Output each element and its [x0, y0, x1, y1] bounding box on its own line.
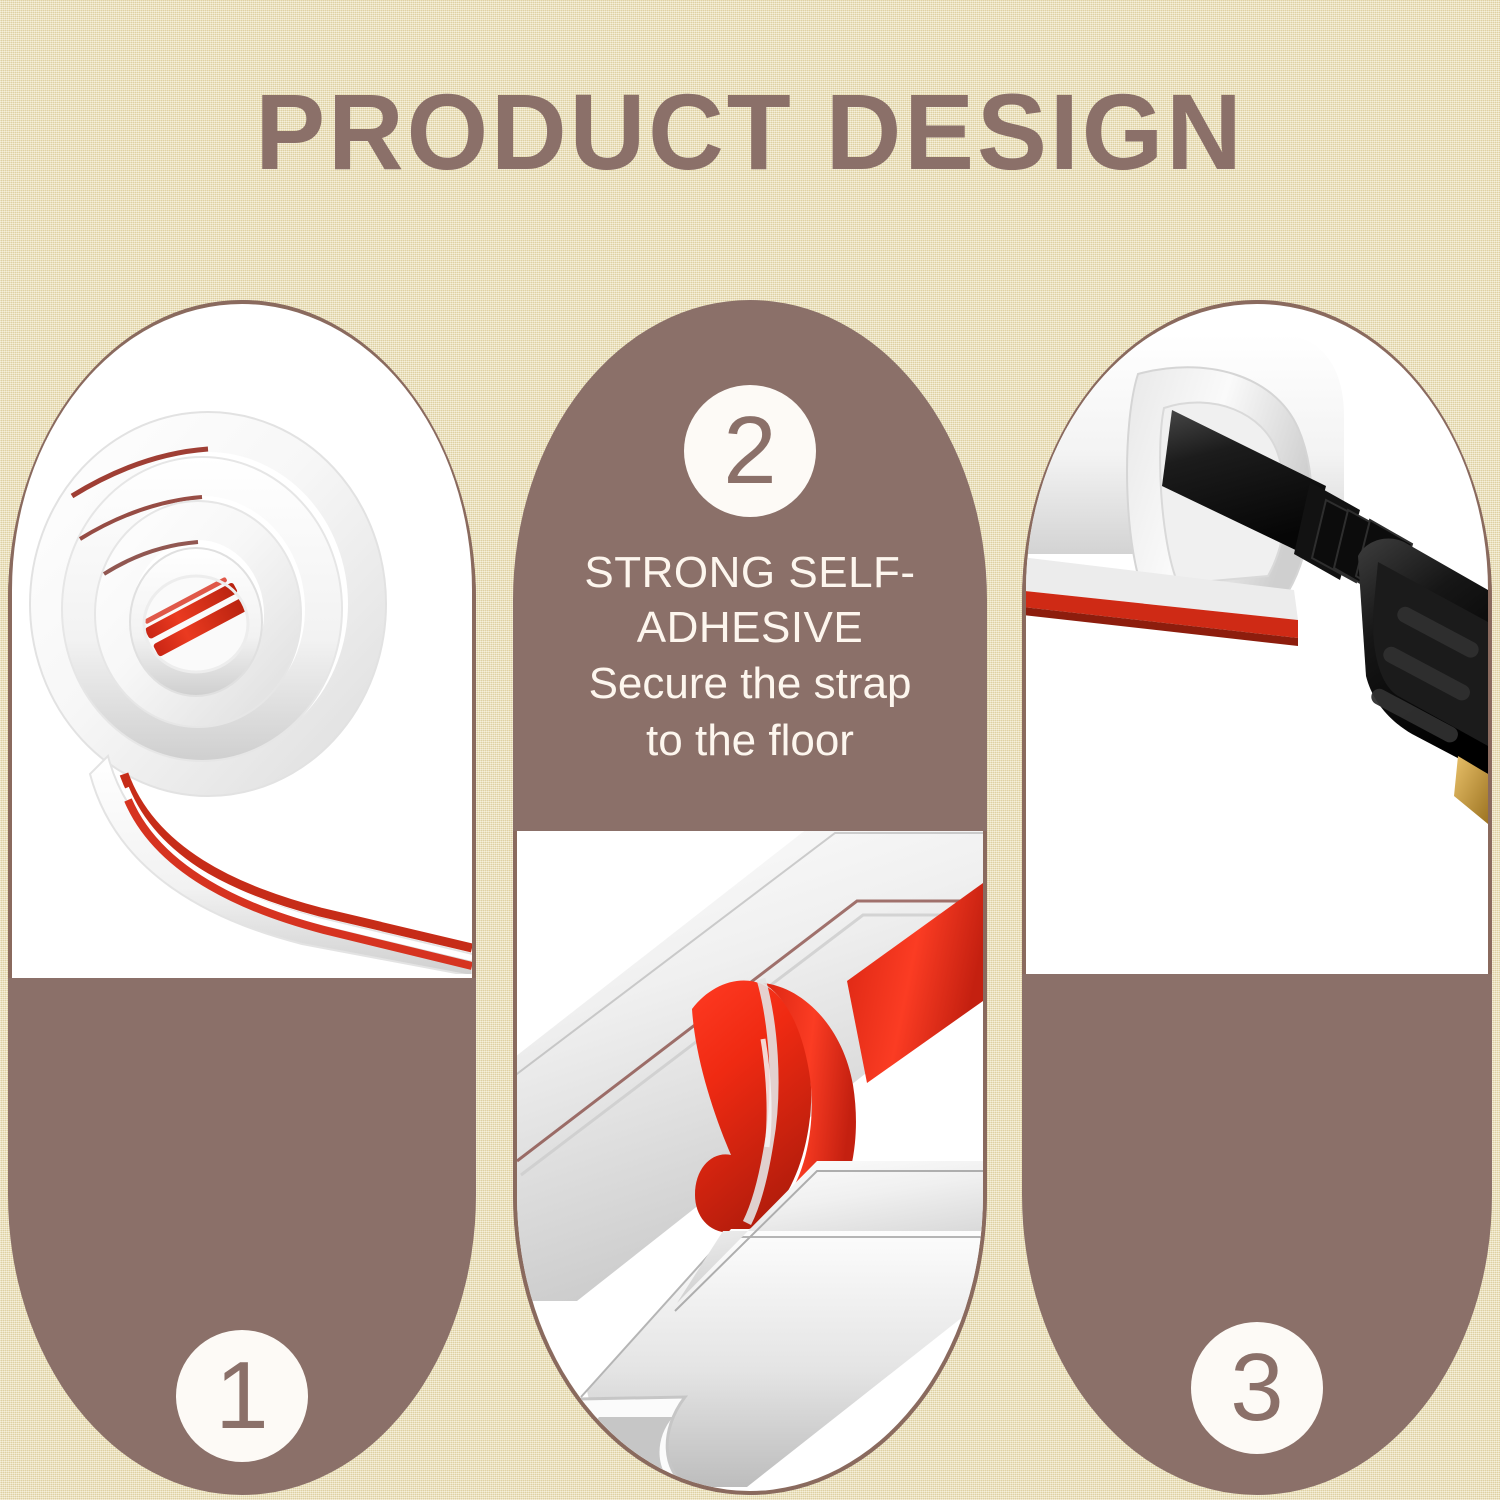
coiled-pvc-cable-cover-image [12, 304, 472, 978]
panel-improve-security: 3 IMPROVE SECURITY Provide comfort Secur… [1022, 300, 1492, 1495]
panel-2-subtext-line-2: to the floor [519, 712, 981, 769]
page-title: PRODUCT DESIGN [23, 78, 1478, 186]
panel-3-caption: IMPROVE SECURITY Provide comfort Securit… [1022, 1492, 1492, 1495]
step-number-badge-1: 1 [176, 1330, 308, 1462]
panel-1-photo-frame [8, 300, 476, 978]
panel-flexible-pvc: 1 FLEXIBLE PVC Easy to insert cables [8, 300, 476, 1495]
panel-2-caption: STRONG SELF- ADHESIVE Secure the strap t… [513, 545, 987, 769]
panel-2-subtext-line-1: Secure the strap [519, 655, 981, 712]
panel-3-heading: IMPROVE SECURITY [1028, 1492, 1486, 1495]
cable-channel-with-plug-image [1026, 304, 1488, 974]
panel-strong-self-adhesive: 2 STRONG SELF- ADHESIVE Secure the strap… [513, 300, 987, 1495]
panel-3-photo-frame [1022, 300, 1492, 974]
panel-2-heading-line-2: ADHESIVE [519, 600, 981, 655]
red-adhesive-tape-peel-image [517, 831, 983, 1491]
panel-2-heading-line-1: STRONG SELF- [519, 545, 981, 600]
panel-2-photo-frame [513, 831, 987, 1495]
step-number-badge-2: 2 [684, 385, 816, 517]
step-number-badge-3: 3 [1191, 1322, 1323, 1454]
